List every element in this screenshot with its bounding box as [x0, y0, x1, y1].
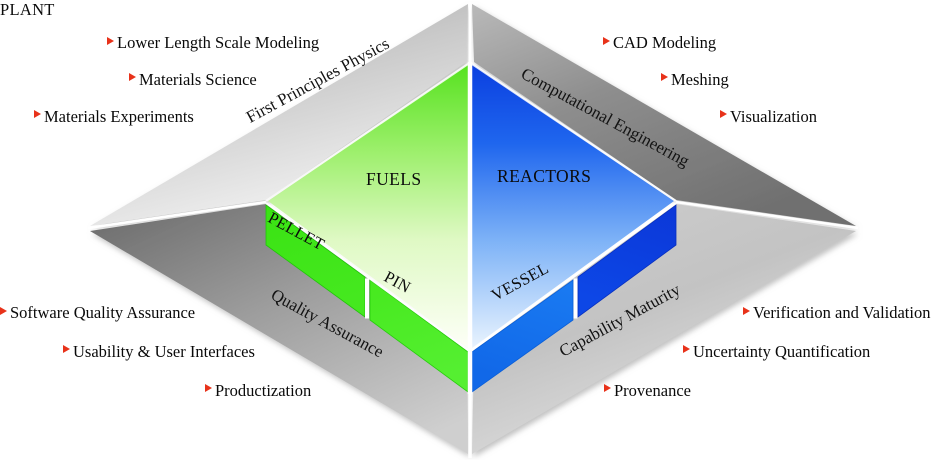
bullet-triangle-icon	[63, 345, 70, 353]
bullet-label: Uncertainty Quantification	[693, 343, 870, 362]
bullet-label: CAD Modeling	[613, 34, 716, 53]
bullet-triangle-icon	[720, 110, 727, 118]
bullet-triangle-icon	[129, 73, 136, 81]
bullet-triangle-icon	[34, 110, 41, 118]
bullet-item: Visualization	[720, 108, 817, 127]
bullet-item: Uncertainty Quantification	[683, 343, 930, 362]
bullet-group-bottom-left: Software Quality Assurance Usability & U…	[0, 304, 311, 421]
band-label-plant: PLANT	[0, 0, 55, 20]
core-label-fuels: FUELS	[366, 169, 421, 190]
bullet-triangle-icon	[0, 307, 7, 315]
diagram-canvas: FUELS REACTORS PELLET PIN VESSEL PLANT F…	[0, 0, 942, 460]
bullet-item: CAD Modeling	[603, 34, 817, 53]
bullet-item: Productization	[205, 382, 311, 401]
bullet-label: Materials Science	[139, 71, 257, 90]
bullet-label: Lower Length Scale Modeling	[117, 34, 319, 53]
bullet-triangle-icon	[661, 73, 668, 81]
bullet-item: Usability & User Interfaces	[63, 343, 311, 362]
bullet-triangle-icon	[683, 345, 690, 353]
bullet-item: Verification and Validation	[743, 304, 930, 323]
bullet-label: Meshing	[671, 71, 729, 90]
core-label-reactors: REACTORS	[497, 166, 591, 187]
bullet-item: Materials Science	[129, 71, 319, 90]
bullet-item: Meshing	[661, 71, 817, 90]
bullet-triangle-icon	[107, 37, 114, 45]
bullet-triangle-icon	[205, 384, 212, 392]
bullet-item: Lower Length Scale Modeling	[107, 34, 319, 53]
bullet-item: Provenance	[604, 382, 930, 401]
bullet-label: Provenance	[614, 382, 691, 401]
bullet-label: Verification and Validation	[753, 304, 930, 323]
bullet-group-bottom-right: Verification and Validation Uncertainty …	[604, 304, 930, 421]
bullet-label: Materials Experiments	[44, 108, 194, 127]
bullet-label: Visualization	[730, 108, 817, 127]
bullet-label: Software Quality Assurance	[10, 304, 195, 323]
bullet-group-top-right: CAD Modeling Meshing Visualization	[603, 34, 817, 145]
bullet-triangle-icon	[743, 307, 750, 315]
bullet-triangle-icon	[603, 37, 610, 45]
bullet-item: Materials Experiments	[34, 108, 319, 127]
bullet-group-top-left: Lower Length Scale Modeling Materials Sc…	[34, 34, 319, 145]
bullet-label: Productization	[215, 382, 311, 401]
bullet-item: Software Quality Assurance	[0, 304, 311, 323]
bullet-label: Usability & User Interfaces	[73, 343, 255, 362]
bullet-triangle-icon	[604, 384, 611, 392]
